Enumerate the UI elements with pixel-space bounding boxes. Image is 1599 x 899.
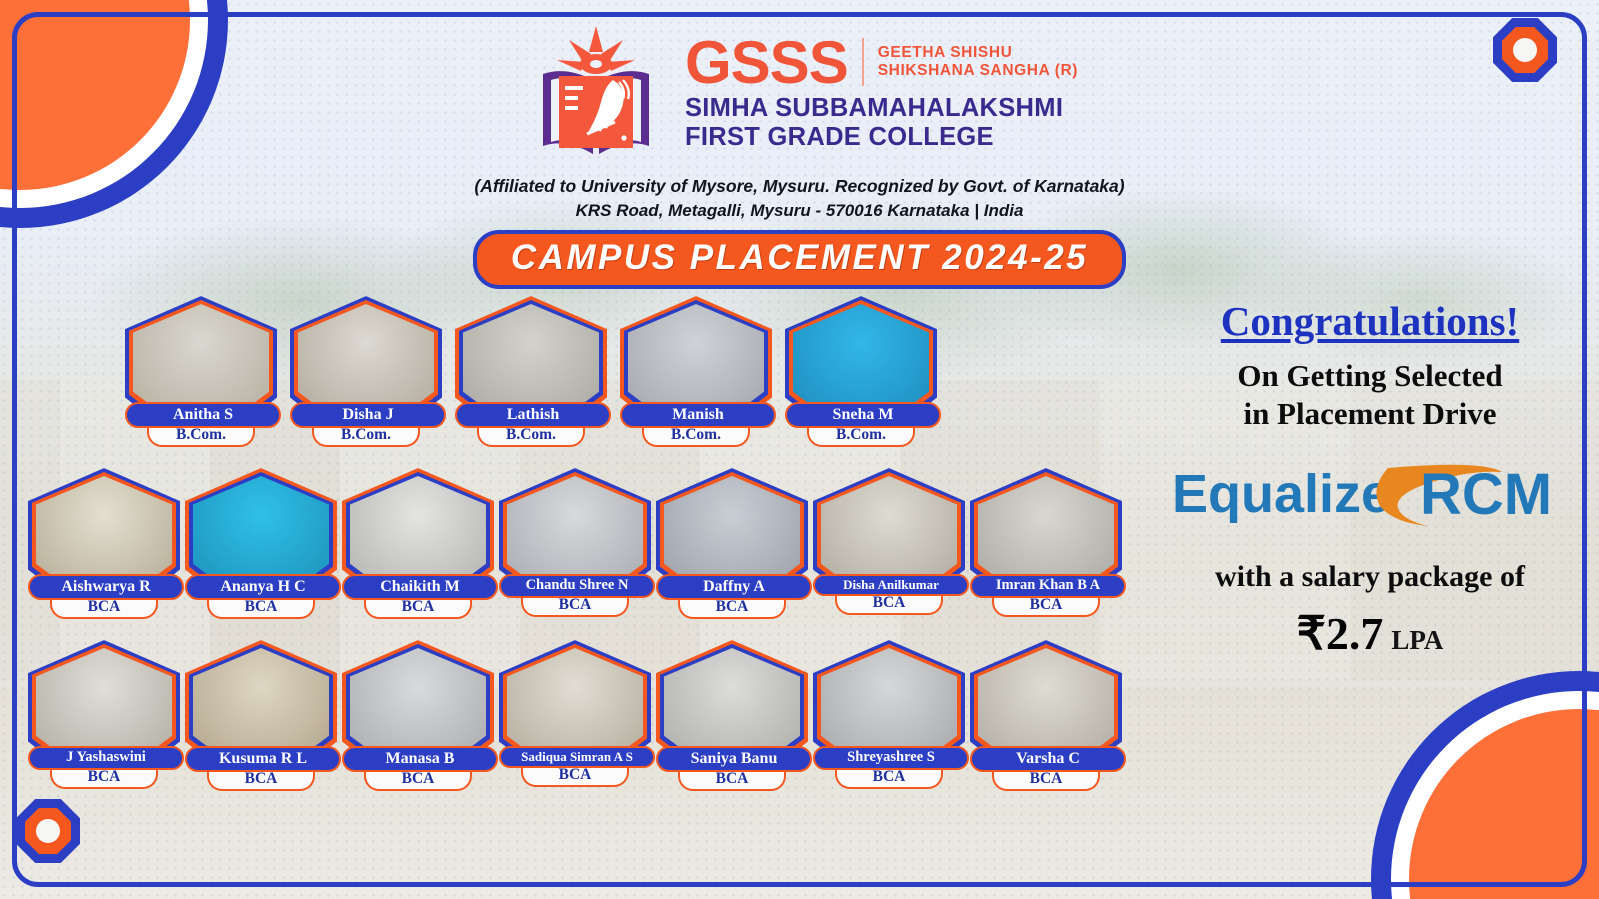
brand-divider — [862, 38, 864, 86]
student-photo — [125, 296, 277, 414]
student-name-plate: Manish — [620, 402, 776, 428]
student-name: Shreyashree S — [815, 748, 967, 768]
student-name: Manish — [622, 404, 774, 426]
placement-poster: GSSS GEETHA SHISHU SHIKSHANA SANGHA (R) … — [0, 0, 1599, 899]
student-photo — [970, 468, 1122, 586]
student-card[interactable]: Sneha MB.Com. — [785, 296, 937, 447]
student-name: Daffny A — [658, 576, 810, 598]
student-photo — [28, 640, 180, 758]
congratulations-heading: Congratulations! — [1160, 300, 1580, 343]
student-name-plate: Sadiqua Simran A S — [499, 746, 655, 768]
octagon-badge-bottom-left-icon — [16, 799, 80, 863]
student-photo — [499, 468, 651, 586]
student-name: Aishwarya R — [30, 576, 182, 598]
student-name-plate: Aishwarya R — [28, 574, 184, 600]
student-name-plate: Daffny A — [656, 574, 812, 600]
student-name-plate: Disha J — [290, 402, 446, 428]
student-photo — [620, 296, 772, 414]
student-photo — [813, 640, 965, 758]
student-photo — [656, 640, 808, 758]
student-card[interactable]: Imran Khan B ABCA — [970, 468, 1122, 617]
affiliation-text: (Affiliated to University of Mysore, Mys… — [0, 176, 1599, 197]
address-text: KRS Road, Metagalli, Mysuru - 570016 Kar… — [0, 201, 1599, 221]
student-card[interactable]: Disha JB.Com. — [290, 296, 442, 447]
student-name: Anitha S — [127, 404, 279, 426]
student-name-plate: Saniya Banu — [656, 746, 812, 772]
campus-placement-ribbon: CAMPUS PLACEMENT 2024-25 — [473, 230, 1126, 289]
student-card[interactable]: ManishB.Com. — [620, 296, 772, 447]
poster-header: GSSS GEETHA SHISHU SHIKSHANA SANGHA (R) … — [0, 18, 1599, 289]
student-name: Sadiqua Simran A S — [501, 748, 653, 766]
student-name-plate: J Yashaswini — [28, 746, 184, 770]
svg-text:RCM: RCM — [1420, 462, 1552, 527]
student-name-plate: Chandu Shree N — [499, 574, 655, 598]
student-name-plate: Sneha M — [785, 402, 941, 428]
student-name: Chaikith M — [344, 576, 496, 598]
student-name-plate: Anitha S — [125, 402, 281, 428]
student-photo — [813, 468, 965, 586]
student-photo — [785, 296, 937, 414]
student-name-plate: Lathish — [455, 402, 611, 428]
student-photo — [499, 640, 651, 758]
student-card[interactable]: Saniya BanuBCA — [656, 640, 808, 791]
student-card[interactable]: Kusuma R LBCA — [185, 640, 337, 791]
student-name: Ananya H C — [187, 576, 339, 598]
gsss-acronym: GSSS — [685, 34, 848, 91]
student-card[interactable]: Disha AnilkumarBCA — [813, 468, 965, 615]
student-card[interactable]: Manasa BBCA — [342, 640, 494, 791]
student-name: Varsha C — [972, 748, 1124, 770]
student-name-plate: Kusuma R L — [185, 746, 341, 772]
selected-line-2: in Placement Drive — [1160, 395, 1580, 433]
student-name: Manasa B — [344, 748, 496, 770]
salary-package-text: with a salary package of — [1160, 560, 1580, 594]
student-name: Sneha M — [787, 404, 939, 426]
salary-package-value: ₹2.7 LPA — [1160, 606, 1580, 660]
student-name-plate: Ananya H C — [185, 574, 341, 600]
salary-amount: ₹2.7 — [1297, 606, 1384, 660]
gsss-book-conch-sun-logo-icon — [521, 18, 671, 168]
college-line-1: SIMHA SUBBAMAHALAKSHMI — [685, 94, 1078, 123]
student-photo — [185, 468, 337, 586]
student-card[interactable]: LathishB.Com. — [455, 296, 607, 447]
student-card[interactable]: Shreyashree SBCA — [813, 640, 965, 789]
student-card[interactable]: Anitha SB.Com. — [125, 296, 277, 447]
ribbon-title: CAMPUS PLACEMENT 2024-25 — [511, 238, 1088, 277]
student-photo — [290, 296, 442, 414]
student-photo — [185, 640, 337, 758]
student-name-plate: Imran Khan B A — [970, 574, 1126, 598]
student-photo — [455, 296, 607, 414]
sangha-name: GEETHA SHISHU SHIKSHANA SANGHA (R) — [878, 44, 1078, 82]
sangha-line-2: SHIKSHANA SANGHA (R) — [878, 62, 1078, 81]
student-photo — [656, 468, 808, 586]
student-card[interactable]: J YashaswiniBCA — [28, 640, 180, 789]
student-name: Imran Khan B A — [972, 576, 1124, 596]
student-name-plate: Chaikith M — [342, 574, 498, 600]
salary-unit: LPA — [1391, 625, 1443, 656]
student-card[interactable]: Ananya H CBCA — [185, 468, 337, 619]
student-card[interactable]: Aishwarya RBCA — [28, 468, 180, 619]
student-name: Chandu Shree N — [501, 576, 653, 596]
college-line-2: FIRST GRADE COLLEGE — [685, 123, 1078, 152]
congratulations-panel: Congratulations! On Getting Selected in … — [1160, 300, 1580, 660]
equalize-rcm-logo-icon: Equalize RCM — [1160, 460, 1580, 530]
student-name: J Yashaswini — [30, 748, 182, 768]
college-name: SIMHA SUBBAMAHALAKSHMI FIRST GRADE COLLE… — [685, 94, 1078, 152]
student-name: Kusuma R L — [187, 748, 339, 770]
student-name-plate: Manasa B — [342, 746, 498, 772]
sangha-line-1: GEETHA SHISHU — [878, 44, 1078, 63]
student-name-plate: Shreyashree S — [813, 746, 969, 770]
student-card[interactable]: Daffny ABCA — [656, 468, 808, 619]
student-photo — [970, 640, 1122, 758]
student-name: Disha Anilkumar — [815, 576, 967, 594]
student-photo — [28, 468, 180, 586]
student-name: Disha J — [292, 404, 444, 426]
student-card[interactable]: Chaikith MBCA — [342, 468, 494, 619]
student-card[interactable]: Sadiqua Simran A SBCA — [499, 640, 651, 787]
student-name: Lathish — [457, 404, 609, 426]
selected-line-1: On Getting Selected — [1160, 357, 1580, 395]
student-name-plate: Disha Anilkumar — [813, 574, 969, 596]
student-name-plate: Varsha C — [970, 746, 1126, 772]
student-card[interactable]: Chandu Shree NBCA — [499, 468, 651, 617]
student-name: Saniya Banu — [658, 748, 810, 770]
student-photo — [342, 640, 494, 758]
student-photo — [342, 468, 494, 586]
student-card[interactable]: Varsha CBCA — [970, 640, 1122, 791]
svg-text:Equalize: Equalize — [1172, 464, 1391, 524]
